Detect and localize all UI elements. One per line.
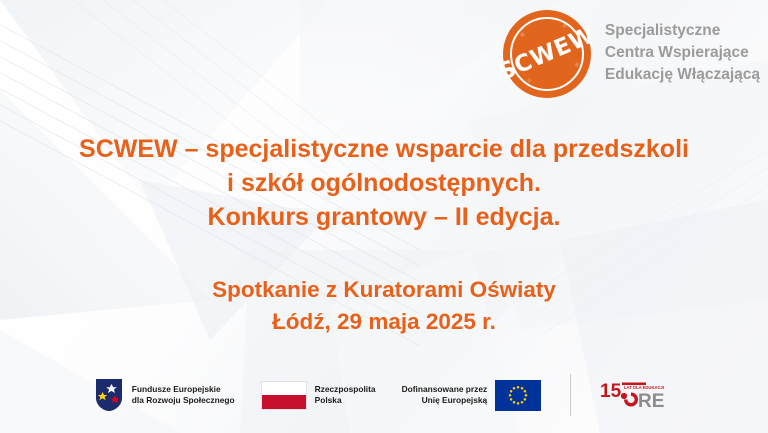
svg-text:RE: RE: [638, 391, 664, 410]
logo-ore: 15 LAT DLA EDUKACJI RE: [587, 380, 687, 410]
slide-subtitle-line-1: Spotkanie z Kuratorami Oświaty: [0, 274, 768, 306]
brand-tagline: Specjalistyczne Centra Wspierające Eduka…: [605, 20, 760, 88]
ore-icon: 15 LAT DLA EDUKACJI RE: [600, 380, 674, 410]
slide-subtitle-line-2: Łódź, 29 maja 2025 r.: [0, 306, 768, 338]
scwew-brand-header: SCWEW Specjalistyczne Centra Wspierające…: [503, 10, 760, 98]
slide-title-line-1: SCWEW – specjalistyczne wsparcie dla prz…: [0, 132, 768, 166]
rzeczpospolita-polska-caption-line-1: Rzeczpospolita: [315, 384, 376, 395]
rzeczpospolita-polska-caption-line-2: Polska: [315, 395, 376, 406]
polish-flag-icon: [261, 381, 307, 410]
slide-title-line-2: i szkół ogólnodostępnych.: [0, 166, 768, 200]
scwew-stamp-logo: SCWEW: [503, 10, 591, 98]
svg-text:LAT DLA EDUKACJI: LAT DLA EDUKACJI: [624, 385, 664, 390]
brand-tagline-line-1: Specjalistyczne: [605, 20, 760, 42]
brand-tagline-line-2: Centra Wspierające: [605, 42, 760, 64]
dofinansowane-caption-line-1: Dofinansowane przez: [402, 384, 488, 395]
slide-subtitle: Spotkanie z Kuratorami Oświaty Łódź, 29 …: [0, 274, 768, 337]
fundusze-europejskie-caption: Fundusze Europejskie dla Rozwoju Społecz…: [132, 384, 235, 406]
dofinansowane-caption-line-2: Unię Europejską: [402, 395, 488, 406]
presentation-slide: SCWEW Specjalistyczne Centra Wspierające…: [0, 0, 768, 433]
logo-rzeczpospolita-polska: Rzeczpospolita Polska: [248, 381, 389, 410]
polish-flag-white-band: [262, 382, 306, 396]
funding-logo-strip: Fundusze Europejskie dla Rozwoju Społecz…: [0, 369, 768, 421]
stamp-label: SCWEW: [489, 0, 604, 112]
brand-tagline-line-3: Edukację Włączającą: [605, 64, 760, 86]
slide-title-line-3: Konkurs grantowy – II edycja.: [0, 200, 768, 234]
fundusze-europejskie-caption-line-2: dla Rozwoju Społecznego: [132, 395, 235, 406]
european-union-flag-icon: [495, 380, 541, 411]
fundusze-europejskie-icon: [94, 378, 124, 412]
logo-separator: [570, 374, 571, 416]
slide-title: SCWEW – specjalistyczne wsparcie dla prz…: [0, 132, 768, 234]
logo-fundusze-europejskie: Fundusze Europejskie dla Rozwoju Społecz…: [81, 378, 248, 412]
dofinansowane-caption: Dofinansowane przez Unię Europejską: [402, 384, 488, 406]
fundusze-europejskie-caption-line-1: Fundusze Europejskie: [132, 384, 235, 395]
svg-text:15: 15: [600, 381, 622, 402]
logo-dofinansowane-przez-ue: Dofinansowane przez Unię Europejską: [389, 380, 555, 411]
rzeczpospolita-polska-caption: Rzeczpospolita Polska: [315, 384, 376, 406]
polish-flag-red-band: [262, 395, 306, 409]
